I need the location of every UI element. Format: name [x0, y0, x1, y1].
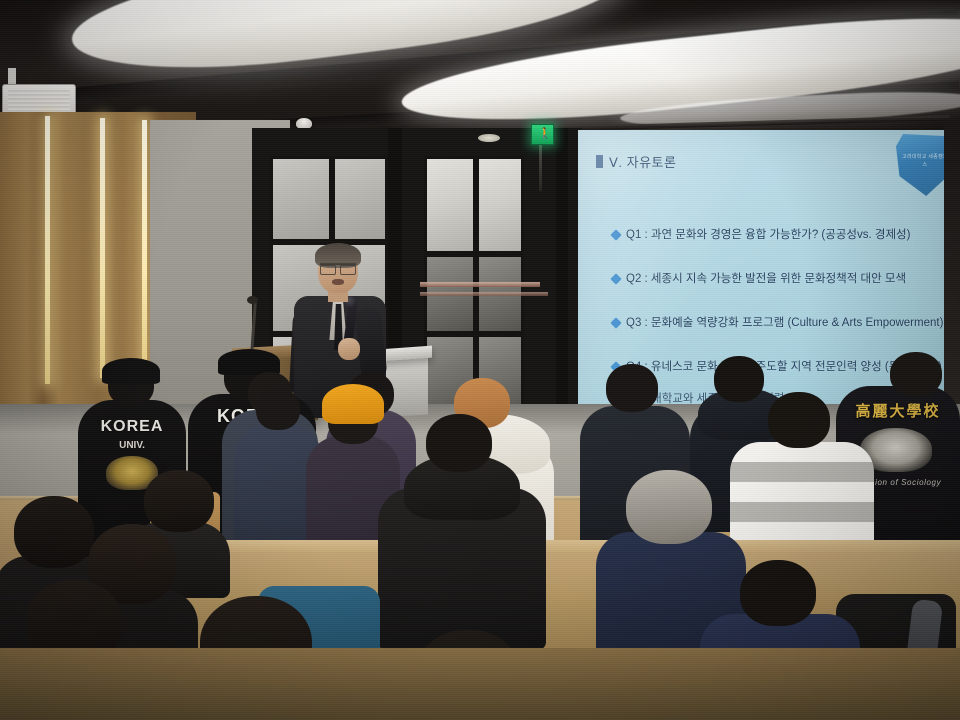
diamond-bullet-icon [610, 229, 621, 240]
audience-member [378, 414, 546, 644]
presenter-hand [338, 338, 360, 360]
foreground-floor [0, 648, 960, 720]
slide-bullet-text: Q2 : 세종시 지속 가능한 발전을 위한 문화정책적 대안 모색 [626, 272, 906, 286]
audience-head [606, 364, 658, 412]
exit-sign-icon: 🚶 [531, 124, 554, 145]
jacket-text-korea: KOREA [78, 418, 186, 436]
presenter-mouth [332, 279, 344, 285]
slide-title-marker-icon [596, 155, 603, 168]
slide-bullet-q1: Q1 : 과연 문화와 경영은 융합 가능한가? (공공성vs. 경제성) [612, 228, 910, 242]
door-pane [476, 156, 524, 254]
door-pane [332, 156, 388, 242]
door-push-bar [420, 292, 548, 296]
audience-head-gray-hair [626, 470, 712, 544]
slide-bullet-text: Q1 : 과연 문화와 경영은 융합 가능한가? (공공성vs. 경제성) [626, 228, 910, 242]
diamond-bullet-icon [610, 273, 621, 284]
audience-head [768, 392, 830, 448]
university-logo-text: 고려대학교 세종캠퍼스 [902, 154, 948, 169]
slide-bullet-q2: Q2 : 세종시 지속 가능한 발전을 위한 문화정책적 대안 모색 [612, 272, 906, 286]
audience-head [144, 470, 214, 532]
audience-head [890, 352, 942, 396]
audience-head [426, 414, 492, 472]
slide-title: Ⅴ. 자유토론 [609, 152, 676, 171]
exit-sign-pole [539, 143, 542, 191]
eyeglasses-icon [320, 263, 356, 273]
slide-title-row: Ⅴ. 자유토론 [596, 152, 676, 171]
microphone-head-icon [247, 296, 258, 304]
lecture-hall-photo: 🚶 Ⅴ. 자유토론 Q1 : 과연 문화와 경영은 융합 가능한가? (공공성v… [0, 0, 960, 720]
led-light-strip [100, 118, 105, 378]
door-mullion [556, 128, 568, 428]
jacket-text-univ: UNIV. [78, 440, 186, 451]
running-person-icon: 🚶 [538, 128, 547, 141]
door-pane [270, 156, 332, 242]
audience-head [256, 388, 300, 430]
door-pane [424, 156, 476, 254]
door-push-bar [420, 282, 540, 287]
diamond-bullet-icon [610, 317, 621, 328]
orange-beanie [322, 384, 384, 424]
slide-bullet-q3: Q3 : 문화예술 역량강화 프로그램 (Culture & Arts Empo… [612, 316, 943, 330]
audience-head [740, 560, 816, 626]
slide-bullet-text: Q3 : 문화예술 역량강화 프로그램 (Culture & Arts Empo… [626, 316, 943, 330]
baseball-cap [102, 358, 160, 384]
led-light-strip [45, 116, 50, 384]
recessed-spotlight [478, 134, 500, 142]
led-light-strip [142, 120, 147, 366]
